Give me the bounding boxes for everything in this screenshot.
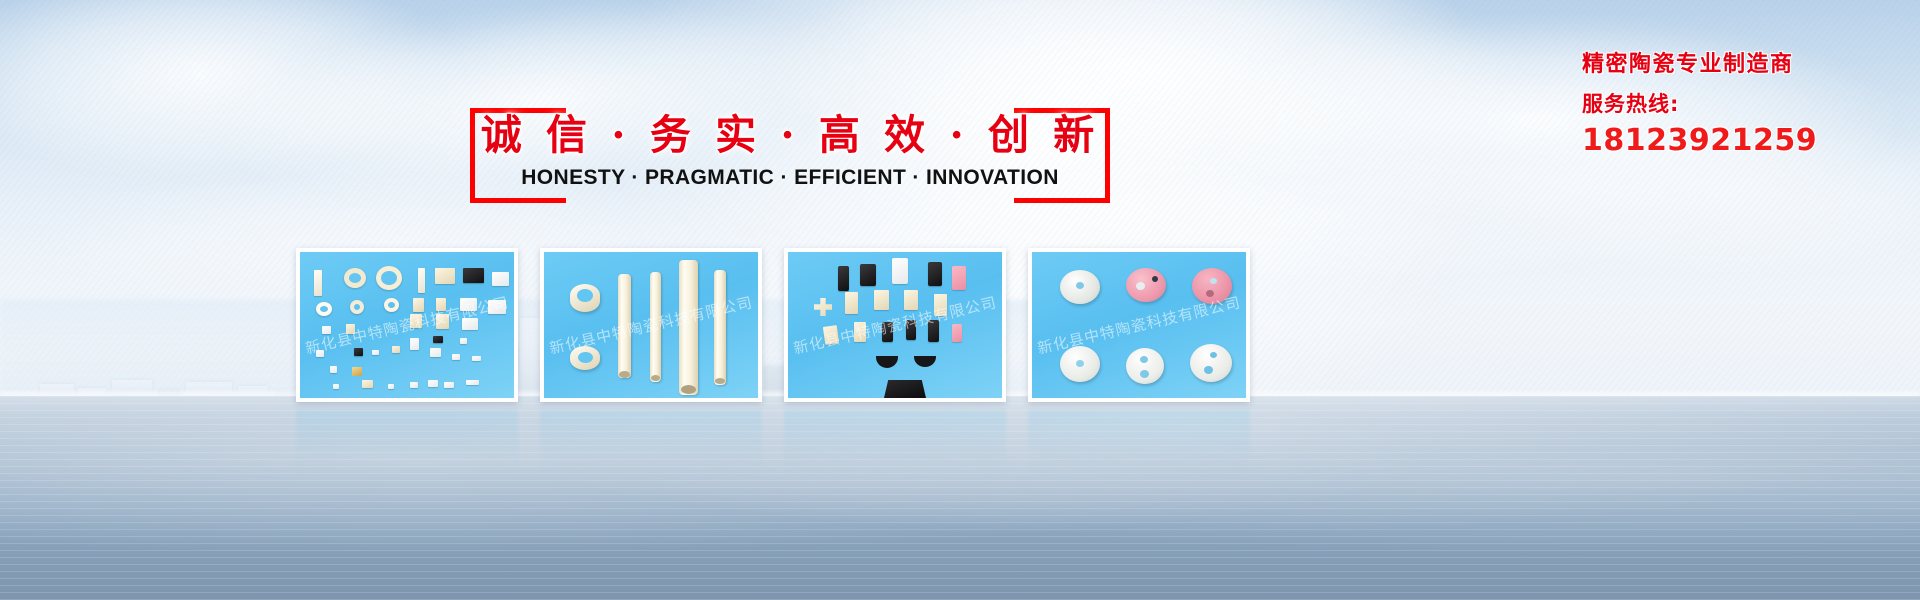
slogan-english: HONESTY · PRAGMATIC · EFFICIENT · INNOVA… — [470, 166, 1110, 190]
product-panel-smd-components[interactable]: 新化县中特陶瓷科技有限公司 — [296, 248, 518, 402]
hero-banner: 诚 信 · 务 实 · 高 效 · 创 新 HONESTY · PRAGMATI… — [0, 0, 1920, 600]
product-gallery: 新化县中特陶瓷科技有限公司 新化县中特陶瓷科技有限公司 — [296, 248, 1250, 402]
hotline-number[interactable]: 18123921259 — [1582, 124, 1882, 158]
slogan-block: 诚 信 · 务 实 · 高 效 · 创 新 HONESTY · PRAGMATI… — [470, 108, 1110, 203]
water-surface — [0, 396, 1920, 600]
hotline-label: 服务热线: — [1582, 84, 1882, 124]
company-tagline: 精密陶瓷专业制造商 — [1582, 50, 1882, 80]
water-reflection — [0, 396, 1920, 600]
product-panel-ceramic-discs[interactable]: 新化县中特陶瓷科技有限公司 — [1028, 248, 1250, 402]
product-panel-ceramic-blocks[interactable]: 新化县中特陶瓷科技有限公司 — [784, 248, 1006, 402]
contact-block: 精密陶瓷专业制造商 服务热线: 18123921259 — [1582, 50, 1882, 158]
slogan-chinese: 诚 信 · 务 实 · 高 效 · 创 新 — [470, 104, 1110, 166]
product-panel-ceramic-tubes[interactable]: 新化县中特陶瓷科技有限公司 — [540, 248, 762, 402]
